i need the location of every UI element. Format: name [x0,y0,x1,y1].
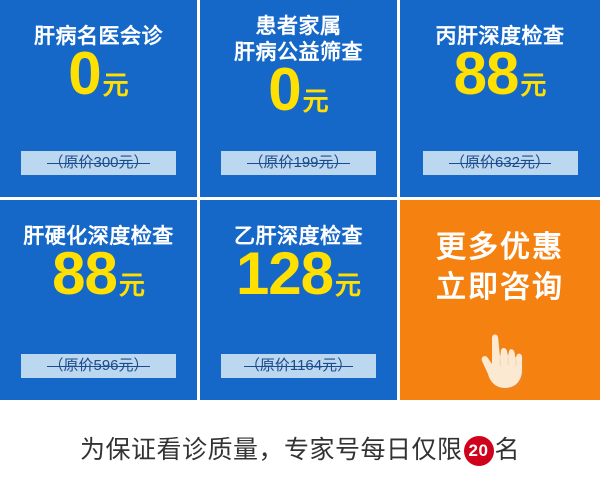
promo-cell-family-public-welfare-screening[interactable]: 患者家属 肝病公益筛查 0 元 （原价199元） [200,0,400,200]
promo-price-number: 0 [68,44,100,104]
footer-text-before: 为保证看诊质量，专家号每日仅限 [80,435,463,465]
promo-price-row: 128 元 [236,244,361,354]
promo-price-unit: 元 [520,72,546,98]
promo-price-unit: 元 [303,88,329,114]
pointing-hand-cursor-icon [470,324,530,394]
promo-price-unit: 元 [335,272,361,298]
promo-price-row: 88 元 [454,44,547,151]
promo-cell-content: 乙肝深度检查 128 元 （原价1164元） [200,200,397,400]
promo-cell-content: 丙肝深度检查 88 元 （原价632元） [400,0,600,197]
footer-line: 为保证看诊质量，专家号每日仅限 20 名 [80,435,520,465]
promo-original-price-tag: （原价632元） [423,151,578,175]
promo-cell-content: 肝病名医会诊 0 元 （原价300元） [0,0,197,197]
promo-cell-more-offers-consult[interactable]: 更多优惠 立即咨询 [400,200,600,400]
promo-cell-liver-disease-expert-consult[interactable]: 肝病名医会诊 0 元 （原价300元） [0,0,200,200]
promo-price-row: 0 元 [68,44,128,151]
promo-cell-content: 患者家属 肝病公益筛查 0 元 （原价199元） [200,0,397,197]
promo-cell-content: 肝硬化深度检查 88 元 （原价596元） [0,200,197,400]
footer-notice: 为保证看诊质量，专家号每日仅限 20 名 [0,400,600,500]
promo-original-price-tag: （原价596元） [21,354,176,378]
promo-original-price-label: （原价632元） [450,152,550,174]
promo-cell-hepatitis-c-deep-exam[interactable]: 丙肝深度检查 88 元 （原价632元） [400,0,600,200]
cta-content: 更多优惠 立即咨询 [400,200,600,400]
promo-price-number: 88 [52,244,117,304]
promo-original-price-label: （原价596元） [48,355,148,377]
promo-banner: 肝病名医会诊 0 元 （原价300元） 患者家属 肝病公益筛查 0 元 （原价 [0,0,600,500]
footer-text-after: 名 [495,435,521,465]
promo-price-unit: 元 [103,72,129,98]
promo-original-price-label: （原价199元） [248,152,348,174]
promo-cell-hepatitis-b-deep-exam[interactable]: 乙肝深度检查 128 元 （原价1164元） [200,200,400,400]
promo-grid: 肝病名医会诊 0 元 （原价300元） 患者家属 肝病公益筛查 0 元 （原价 [0,0,600,400]
promo-price-number: 128 [236,244,333,304]
promo-price-row: 88 元 [52,244,145,354]
promo-original-price-label: （原价300元） [48,152,148,174]
promo-original-price-tag: （原价300元） [21,151,176,175]
promo-price-row: 0 元 [268,60,328,151]
promo-original-price-tag: （原价199元） [221,151,376,175]
promo-price-unit: 元 [119,272,145,298]
footer-limit-badge: 20 [464,436,494,466]
promo-original-price-label: （原价1164元） [245,355,352,377]
promo-cell-cirrhosis-deep-exam[interactable]: 肝硬化深度检查 88 元 （原价596元） [0,200,200,400]
promo-price-number: 88 [454,44,519,104]
promo-price-number: 0 [268,60,300,120]
promo-original-price-tag: （原价1164元） [221,354,376,378]
cta-label: 更多优惠 立即咨询 [436,228,564,308]
